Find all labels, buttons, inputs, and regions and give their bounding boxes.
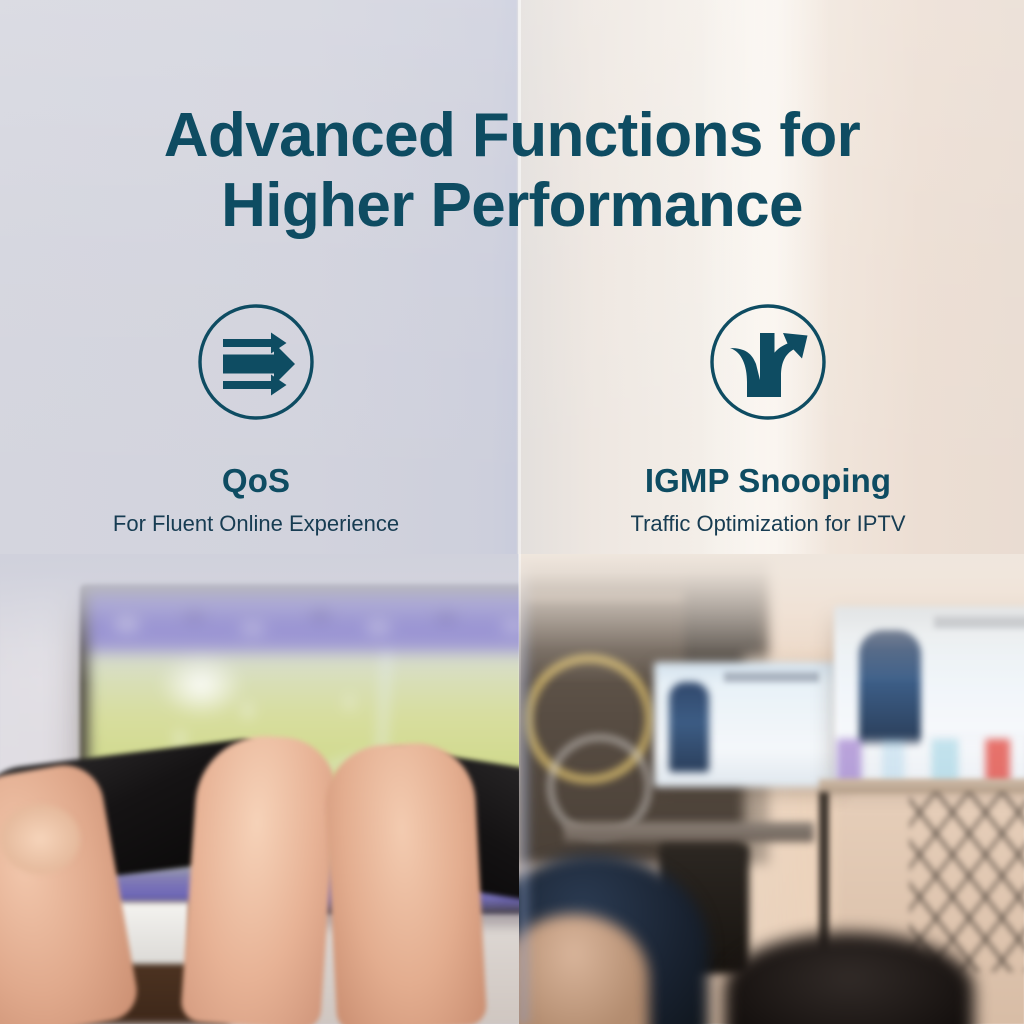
branching-arrow-icon xyxy=(708,302,828,422)
promo-poster: Advanced Functions for Higher Performanc… xyxy=(0,0,1024,1024)
feature-qos-title: QoS xyxy=(222,462,290,500)
qos-arrows-icon xyxy=(196,302,316,422)
feature-qos: QoS For Fluent Online Experience xyxy=(0,302,512,537)
feature-qos-subtitle: For Fluent Online Experience xyxy=(113,511,399,537)
feature-columns: QoS For Fluent Online Experience IGMP Sn… xyxy=(0,302,1024,537)
feature-igmp-snooping: IGMP Snooping Traffic Optimization for I… xyxy=(512,302,1024,537)
poster-content: Advanced Functions for Higher Performanc… xyxy=(0,0,1024,1024)
feature-igmp-title: IGMP Snooping xyxy=(645,462,891,500)
page-title-line-1: Advanced Functions for xyxy=(0,101,1024,171)
page-title-line-2: Higher Performance xyxy=(0,171,1024,241)
page-title: Advanced Functions for Higher Performanc… xyxy=(0,101,1024,241)
feature-igmp-subtitle: Traffic Optimization for IPTV xyxy=(630,511,905,537)
